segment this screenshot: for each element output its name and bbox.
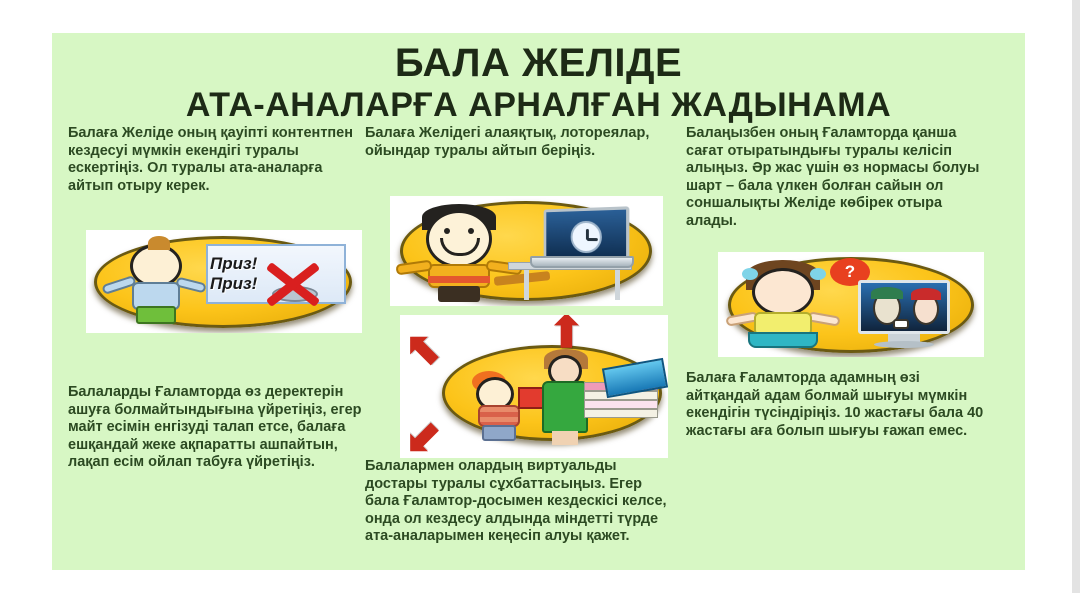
- text-block-top-right: Балаңызбен оның Ғаламторда қанша сағат о…: [686, 125, 986, 230]
- poster-title-primary: БАЛА ЖЕЛІДЕ: [52, 41, 1025, 85]
- girl-head-icon: [752, 268, 814, 316]
- prize-label-two: Приз!: [210, 274, 257, 294]
- girl-right-bow-icon: [810, 268, 826, 280]
- clock-icon: [571, 221, 602, 254]
- monitor-screen: [858, 280, 950, 334]
- stack-of-books-icon: [584, 375, 658, 427]
- child-striped-shirt: [478, 405, 520, 427]
- window-edge-strip: [1072, 0, 1080, 593]
- arrow-upper-left-icon: ⬆: [400, 322, 453, 379]
- illustration-boy-laptop: [390, 196, 663, 306]
- arrow-up-icon: ⬆: [548, 315, 585, 355]
- boy-pants: [136, 306, 176, 324]
- boy-hair-icon: [148, 236, 170, 250]
- text-block-top-center: Балаға Желідегі алаяқтық, лотореялар, ой…: [365, 125, 660, 160]
- boy-left-eye: [444, 228, 450, 234]
- poster-title-secondary: АТА-АНАЛАРҒА АРНАЛҒАН ЖАДЫНАМА: [52, 85, 1025, 125]
- stranger-mouth: [893, 319, 909, 329]
- child-avatar-cap-icon: [911, 288, 941, 300]
- text-block-bottom-right: Балаға Ғаламторда адамның өзі айтқандай …: [686, 370, 986, 440]
- arrow-lower-left-icon: ⬆: [400, 408, 453, 458]
- boy-shirt-stripe: [428, 276, 490, 283]
- illustration-boy-prize: Приз! Приз!: [86, 230, 362, 333]
- boy-legs: [438, 286, 480, 302]
- girl-left-bow-icon: [742, 268, 758, 280]
- text-block-bottom-center: Балалармен олардың виртуальды достары ту…: [365, 458, 677, 546]
- illustration-child-woman-books: ⬆ ⬆ ⬆: [400, 315, 668, 458]
- desk-legs: [524, 270, 620, 300]
- boy-right-eye: [468, 228, 474, 234]
- monitor-base: [874, 341, 934, 348]
- woman-legs: [552, 431, 578, 445]
- girl-skirt: [748, 332, 818, 348]
- poster-panel: БАЛА ЖЕЛІДЕ АТА-АНАЛАРҒА АРНАЛҒАН ЖАДЫНА…: [52, 33, 1025, 570]
- child-pants: [482, 425, 516, 441]
- prize-label-one: Приз!: [210, 254, 257, 274]
- text-block-top-left: Балаға Желіде оның қауіпті контентпен ке…: [68, 125, 358, 195]
- screenshot-root: БАЛА ЖЕЛІДЕ АТА-АНАЛАРҒА АРНАЛҒАН ЖАДЫНА…: [0, 0, 1080, 593]
- laptop-keyboard-base: [530, 256, 634, 268]
- red-cross-icon: [262, 254, 324, 310]
- stranger-cap-icon: [871, 287, 903, 299]
- text-block-bottom-left: Балаларды Ғаламторда өз деректерін ашуға…: [68, 384, 368, 472]
- woman-green-dress: [542, 381, 588, 433]
- illustration-girl-monitor: ?: [718, 252, 984, 357]
